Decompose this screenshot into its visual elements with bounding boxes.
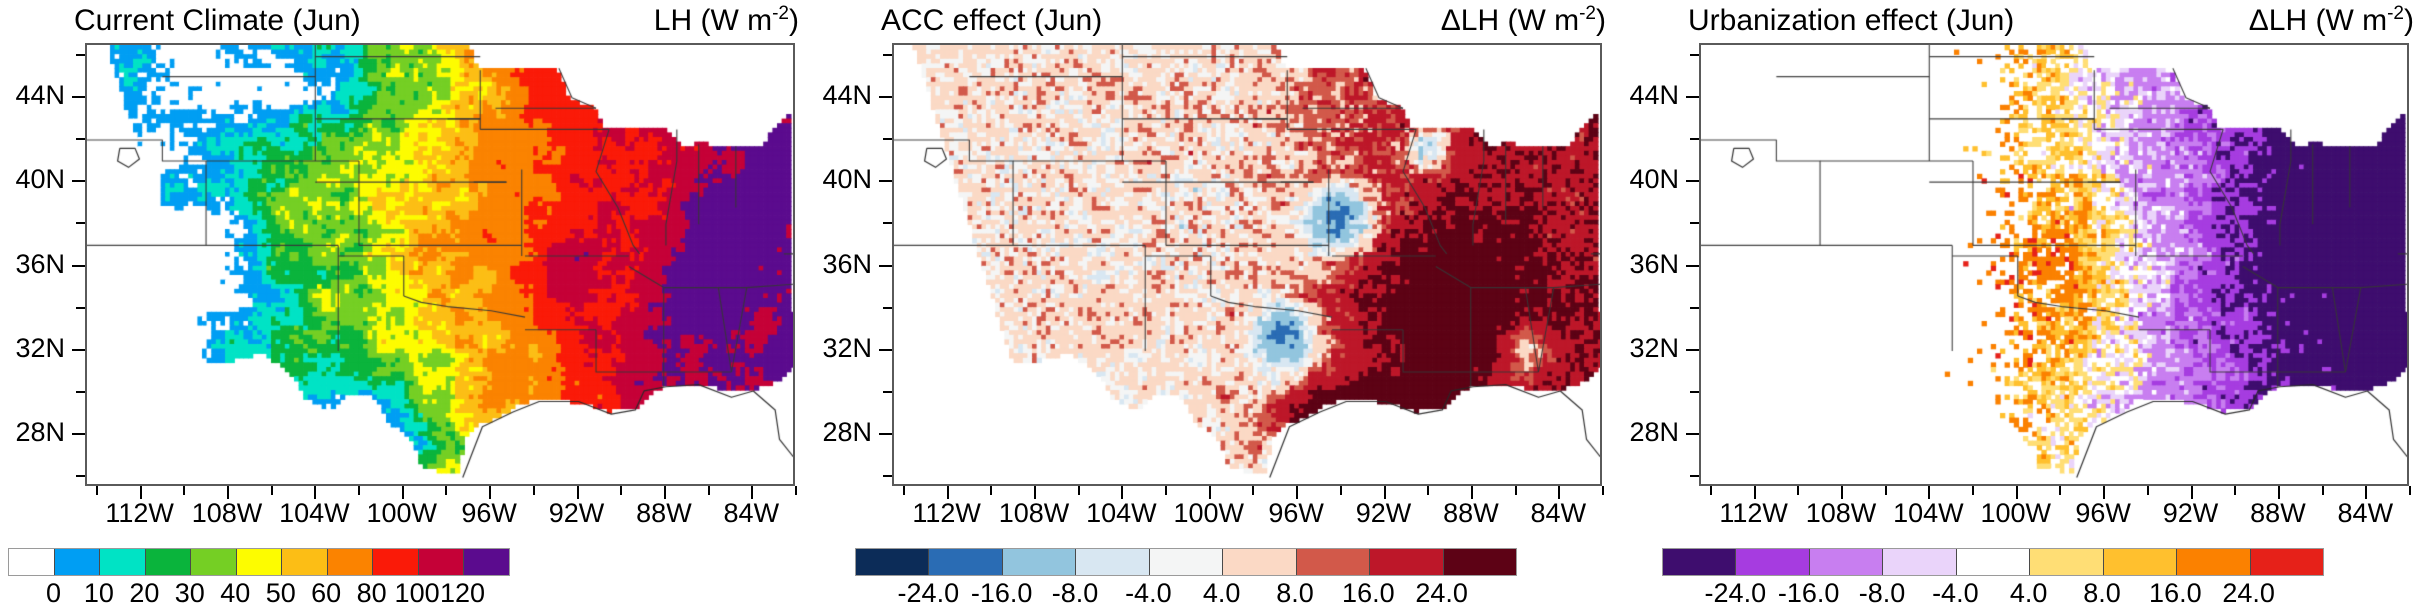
lon-tick-minor <box>271 486 273 495</box>
colorbar-segment[interactable] <box>1663 549 1736 575</box>
colorbar-dlh-purple-orange[interactable] <box>1662 548 2324 576</box>
map-canvas <box>1701 45 2407 484</box>
units-prefix: ΔLH (W m <box>1441 4 1579 37</box>
colorbar-segment[interactable] <box>100 549 146 575</box>
lon-tick-label: 84W <box>2338 500 2394 527</box>
colorbar-tick-label: 20 <box>129 580 159 607</box>
lon-tick <box>1558 486 1560 499</box>
lat-tick-minor <box>76 54 85 56</box>
lat-tick-minor <box>76 138 85 140</box>
colorbar-segment[interactable] <box>282 549 328 575</box>
lon-tick <box>1384 486 1386 499</box>
lon-tick-label: 100W <box>1980 500 2051 527</box>
lat-tick-minor <box>883 475 892 477</box>
lon-tick-label: 84W <box>1531 500 1587 527</box>
lon-tick <box>947 486 949 499</box>
lon-tick-label: 112W <box>1719 500 1788 527</box>
lon-tick-minor <box>1797 486 1799 495</box>
colorbar-segment[interactable] <box>373 549 419 575</box>
colorbar-tick-label: 16.0 <box>2149 580 2202 607</box>
lon-tick-minor <box>1885 486 1887 495</box>
lon-tick <box>489 486 491 499</box>
lon-tick-minor <box>1078 486 1080 495</box>
lat-tick-minor <box>883 391 892 393</box>
lat-tick-label: 28N <box>807 419 872 446</box>
colorbar-segment[interactable] <box>464 549 509 575</box>
colorbar-tick-label: 60 <box>311 580 341 607</box>
lon-tick-minor <box>533 486 535 495</box>
lon-tick-label: 100W <box>1173 500 1244 527</box>
panel-units-label: ΔLH (W m-2) <box>2249 6 2414 36</box>
lat-tick-minor <box>76 475 85 477</box>
colorbar-tick-label: 24.0 <box>1415 580 1468 607</box>
colorbar-tick-label: -24.0 <box>1705 580 1767 607</box>
lat-tick <box>879 433 892 435</box>
lon-tick <box>1296 486 1298 499</box>
lon-tick-minor <box>1427 486 1429 495</box>
lon-tick-label: 100W <box>366 500 437 527</box>
colorbar-segment[interactable] <box>419 549 465 575</box>
colorbar-tick-label: 50 <box>266 580 296 607</box>
colorbar-tick-label: 120 <box>440 580 485 607</box>
colorbar-tick-label: 80 <box>357 580 387 607</box>
colorbar-tick-label: -16.0 <box>971 580 1033 607</box>
lat-tick-minor <box>1690 307 1699 309</box>
lat-tick-label: 36N <box>807 251 872 278</box>
lon-tick <box>1841 486 1843 499</box>
colorbar-tick-label: 4.0 <box>1203 580 1241 607</box>
panel-units-label: LH (W m-2) <box>654 6 799 36</box>
colorbar-segment[interactable] <box>1370 549 1443 575</box>
lat-tick-minor <box>1690 222 1699 224</box>
lon-tick-minor <box>96 486 98 495</box>
lat-tick-label: 32N <box>1614 335 1679 362</box>
lat-tick-label: 32N <box>807 335 872 362</box>
lon-tick <box>402 486 404 499</box>
lat-tick <box>72 433 85 435</box>
colorbar-tick-label: 24.0 <box>2222 580 2275 607</box>
colorbar-tick-label: 16.0 <box>1342 580 1395 607</box>
lon-tick <box>2365 486 2367 499</box>
panel-units-label: ΔLH (W m-2) <box>1441 6 1606 36</box>
lat-tick-label: 40N <box>807 166 872 193</box>
lat-tick-label: 36N <box>1614 251 1679 278</box>
lon-tick-label: 112W <box>912 500 981 527</box>
map-canvas <box>87 45 793 484</box>
lat-tick <box>72 180 85 182</box>
lon-tick-minor <box>2322 486 2324 495</box>
colorbar-segment[interactable] <box>191 549 237 575</box>
colorbar-tick-label: 30 <box>175 580 205 607</box>
panel-current-climate: Current Climate (Jun) LH (W m-2) 44N40N3… <box>0 0 807 601</box>
colorbar-segment[interactable] <box>1076 549 1149 575</box>
lon-tick-minor <box>1515 486 1517 495</box>
colorbar-segment[interactable] <box>1736 549 1809 575</box>
lon-tick-minor <box>183 486 185 495</box>
lon-tick-minor <box>620 486 622 495</box>
lon-tick-label: 88W <box>1443 500 1499 527</box>
lon-tick-label: 84W <box>724 500 780 527</box>
lat-tick-label: 44N <box>1614 82 1679 109</box>
colorbar-segment[interactable] <box>1444 549 1516 575</box>
colorbar-segment[interactable] <box>55 549 101 575</box>
lon-tick-minor <box>1252 486 1254 495</box>
lon-tick-minor <box>1602 486 1604 495</box>
panel-title-left: Urbanization effect (Jun) <box>1688 6 2014 36</box>
lon-tick <box>1121 486 1123 499</box>
lat-tick-label: 28N <box>1614 419 1679 446</box>
lon-tick <box>1209 486 1211 499</box>
lat-tick-minor <box>76 307 85 309</box>
colorbar-tick-label: -4.0 <box>1932 580 1979 607</box>
lat-tick <box>1686 265 1699 267</box>
lon-tick-minor <box>2147 486 2149 495</box>
units-suffix: ) <box>1596 4 1606 37</box>
lat-tick-minor <box>1690 391 1699 393</box>
lon-tick-label: 104W <box>1086 500 1157 527</box>
units-exponent: -2 <box>1579 3 1596 24</box>
map-plot-area[interactable] <box>892 43 1602 486</box>
lat-tick-label: 44N <box>807 82 872 109</box>
colorbar-segment[interactable] <box>2251 549 2323 575</box>
colorbar-segment[interactable] <box>146 549 192 575</box>
colorbar-tick-label: -24.0 <box>898 580 960 607</box>
lon-tick-label: 96W <box>2075 500 2131 527</box>
panel-acc-effect: ACC effect (Jun) ΔLH (W m-2) 44N40N36N32… <box>807 0 1614 601</box>
lon-tick-minor <box>990 486 992 495</box>
map-canvas <box>894 45 1600 484</box>
colorbar-tick-label: -4.0 <box>1125 580 1172 607</box>
colorbar-segment[interactable] <box>328 549 374 575</box>
colorbar-segment[interactable] <box>2030 549 2103 575</box>
lon-tick <box>227 486 229 499</box>
colorbar-segment[interactable] <box>1297 549 1370 575</box>
lon-tick-minor <box>795 486 797 495</box>
lat-tick-label: 40N <box>0 166 65 193</box>
lon-tick <box>314 486 316 499</box>
lon-tick-label: 92W <box>549 500 605 527</box>
lon-tick <box>1471 486 1473 499</box>
lon-tick-label: 96W <box>1268 500 1324 527</box>
lon-tick <box>664 486 666 499</box>
lat-tick-label: 36N <box>0 251 65 278</box>
lon-tick-label: 88W <box>2250 500 2306 527</box>
lat-tick-minor <box>1690 138 1699 140</box>
lon-tick <box>1034 486 1036 499</box>
lon-tick <box>2016 486 2018 499</box>
lon-tick-minor <box>358 486 360 495</box>
units-exponent: -2 <box>2387 3 2404 24</box>
colorbar-segment[interactable] <box>1150 549 1223 575</box>
lon-tick-label: 96W <box>461 500 517 527</box>
lat-tick <box>1686 433 1699 435</box>
lat-tick <box>72 349 85 351</box>
colorbar-tick-label: 40 <box>220 580 250 607</box>
lat-tick <box>879 180 892 182</box>
lon-tick-minor <box>445 486 447 495</box>
panel-title-left: ACC effect (Jun) <box>881 6 1102 36</box>
lat-tick-minor <box>1690 475 1699 477</box>
lat-tick <box>72 96 85 98</box>
lat-tick <box>72 265 85 267</box>
colorbar-segment[interactable] <box>237 549 283 575</box>
colorbar-segment[interactable] <box>1883 549 1956 575</box>
lat-tick <box>879 349 892 351</box>
colorbar-segment[interactable] <box>9 549 55 575</box>
lon-tick-label: 112W <box>105 500 174 527</box>
colorbar-tick-label: 8.0 <box>1276 580 1314 607</box>
colorbar-tick-label: -8.0 <box>1859 580 1906 607</box>
colorbar-tick-label: 100 <box>395 580 440 607</box>
colorbar-tick-label: 0 <box>46 580 61 607</box>
lon-tick <box>1754 486 1756 499</box>
lon-tick-minor <box>903 486 905 495</box>
lon-tick-label: 104W <box>1893 500 1964 527</box>
lon-tick-minor <box>1972 486 1974 495</box>
lat-tick-label: 40N <box>1614 166 1679 193</box>
colorbar-segment[interactable] <box>1957 549 2030 575</box>
lon-tick-minor <box>2059 486 2061 495</box>
colorbar-tick-label: -8.0 <box>1052 580 1099 607</box>
lat-tick <box>1686 96 1699 98</box>
units-exponent: -2 <box>772 3 789 24</box>
lat-tick-minor <box>883 138 892 140</box>
lon-tick-label: 92W <box>1356 500 1412 527</box>
lon-tick-minor <box>1165 486 1167 495</box>
lon-tick-minor <box>708 486 710 495</box>
colorbar-dlh-blue-red[interactable] <box>855 548 1517 576</box>
colorbar-lh-absolute[interactable] <box>8 548 510 576</box>
lon-tick-minor <box>2409 486 2411 495</box>
lon-tick <box>751 486 753 499</box>
map-plot-area[interactable] <box>1699 43 2409 486</box>
colorbar-tick-label: 10 <box>84 580 114 607</box>
figure-root: Current Climate (Jun) LH (W m-2) 44N40N3… <box>0 0 2422 601</box>
lat-tick-minor <box>883 54 892 56</box>
lat-tick <box>879 265 892 267</box>
lat-tick-minor <box>1690 54 1699 56</box>
units-suffix: ) <box>2404 4 2414 37</box>
map-plot-area[interactable] <box>85 43 795 486</box>
lon-tick-label: 88W <box>636 500 692 527</box>
lon-tick <box>140 486 142 499</box>
lat-tick-label: 28N <box>0 419 65 446</box>
lat-tick-minor <box>883 222 892 224</box>
lon-tick-label: 108W <box>192 500 263 527</box>
lon-tick <box>2191 486 2193 499</box>
lat-tick <box>1686 180 1699 182</box>
lat-tick-minor <box>883 307 892 309</box>
lat-tick-label: 32N <box>0 335 65 362</box>
lat-tick-minor <box>76 222 85 224</box>
lon-tick-minor <box>2234 486 2236 495</box>
lat-tick <box>879 96 892 98</box>
lat-tick-label: 44N <box>0 82 65 109</box>
colorbar-tick-label: 4.0 <box>2010 580 2048 607</box>
lon-tick-minor <box>1340 486 1342 495</box>
lon-tick-label: 108W <box>1806 500 1877 527</box>
lat-tick <box>1686 349 1699 351</box>
colorbar-segment[interactable] <box>929 549 1002 575</box>
lat-tick-minor <box>76 391 85 393</box>
colorbar-tick-label: 8.0 <box>2083 580 2121 607</box>
units-prefix: ΔLH (W m <box>2249 4 2387 37</box>
units-prefix: LH (W m <box>654 4 772 37</box>
colorbar-segment[interactable] <box>2177 549 2250 575</box>
lon-tick <box>2103 486 2105 499</box>
colorbar-segment[interactable] <box>856 549 929 575</box>
lon-tick <box>1928 486 1930 499</box>
colorbar-tick-label: -16.0 <box>1778 580 1840 607</box>
units-suffix: ) <box>789 4 799 37</box>
lon-tick <box>577 486 579 499</box>
colorbar-segment[interactable] <box>1003 549 1076 575</box>
panel-urbanization-effect: Urbanization effect (Jun) ΔLH (W m-2) 44… <box>1614 0 2422 601</box>
colorbar-segment[interactable] <box>1223 549 1296 575</box>
lon-tick-minor <box>1710 486 1712 495</box>
lon-tick-label: 92W <box>2163 500 2219 527</box>
lon-tick-label: 104W <box>279 500 350 527</box>
colorbar-segment[interactable] <box>1810 549 1883 575</box>
colorbar-segment[interactable] <box>2104 549 2177 575</box>
lon-tick-label: 108W <box>999 500 1070 527</box>
lon-tick <box>2278 486 2280 499</box>
panel-title-left: Current Climate (Jun) <box>74 6 361 36</box>
